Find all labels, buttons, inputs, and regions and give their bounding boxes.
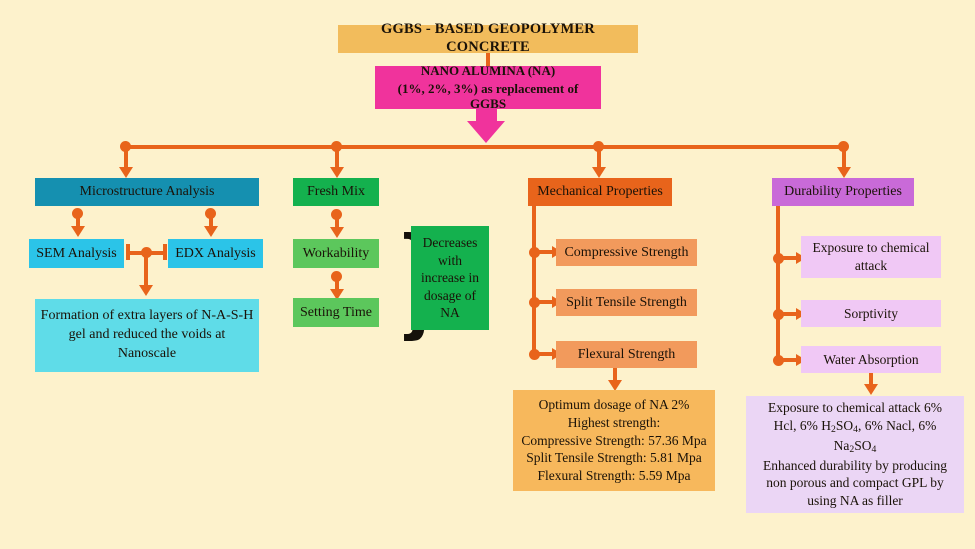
drop-arrow-fresh-mix xyxy=(330,167,344,178)
split-tensile-strength-text: Split Tensile Strength xyxy=(566,294,687,311)
drop-durability xyxy=(842,147,846,169)
durability-spine xyxy=(776,206,780,361)
mechanical-result-line1: Optimum dosage of NA 2% xyxy=(539,396,690,414)
fresh-mix-note-line3: increase in xyxy=(421,269,479,287)
drop-fresh-mix xyxy=(335,147,339,169)
mechanical-result-line4: Split Tensile Strength: 5.81 Mpa xyxy=(526,449,701,467)
mechanical-line-flexural xyxy=(536,352,553,356)
durability-result-line4: Enhanced durability by producing xyxy=(763,457,947,475)
mechanical-result-line2: Highest strength: xyxy=(568,414,661,432)
diagram-title-box: GGBS - BASED GEOPOLYMER CONCRETE xyxy=(338,25,638,53)
durability-result-line3-pre: Na xyxy=(834,438,850,453)
durability-result-arrow xyxy=(864,384,878,395)
durability-result-box: Exposure to chemical attack 6% Hcl, 6% H… xyxy=(746,396,964,513)
main-bus-line xyxy=(125,145,843,149)
durability-line-chemical xyxy=(780,256,797,260)
durability-header-text: Durability Properties xyxy=(784,183,902,200)
edx-join-cap xyxy=(163,244,167,260)
sem-analysis-text: SEM Analysis xyxy=(36,245,117,262)
durability-result-line5: non porous and compact GPL by xyxy=(766,474,944,492)
sorptivity-box: Sorptivity xyxy=(801,300,941,327)
sem-analysis-box: SEM Analysis xyxy=(29,239,124,268)
fresh-mix-note-line1: Decreases xyxy=(423,234,478,252)
drop-arrow-mechanical xyxy=(592,167,606,178)
drop-arrow-durability xyxy=(837,167,851,178)
sorptivity-text: Sorptivity xyxy=(844,305,898,323)
nano-alumina-line1: NANO ALUMINA (NA) xyxy=(421,63,555,79)
microstructure-result-box: Formation of extra layers of N-A-S-H gel… xyxy=(35,299,259,372)
fresh-mix-note-line2: with xyxy=(438,252,462,270)
fresh-mix-note-box: Decreases with increase in dosage of NA xyxy=(411,226,489,330)
diagram-title-text: GGBS - BASED GEOPOLYMER CONCRETE xyxy=(342,21,634,56)
water-absorption-box: Water Absorption xyxy=(801,346,941,373)
water-absorption-text: Water Absorption xyxy=(823,351,918,369)
durability-result-line2: Hcl, 6% H2SO4, 6% Nacl, 6% xyxy=(774,417,937,437)
flexural-strength-box: Flexural Strength xyxy=(556,341,697,368)
fresh-mix-arrow-workability xyxy=(330,227,344,238)
split-tensile-strength-box: Split Tensile Strength xyxy=(556,289,697,316)
mechanical-spine xyxy=(532,206,536,358)
durability-result-line1: Exposure to chemical attack 6% xyxy=(768,399,942,417)
mechanical-line-split-tensile xyxy=(536,300,553,304)
setting-time-text: Setting Time xyxy=(300,304,372,321)
fresh-mix-note-line5: NA xyxy=(440,304,460,322)
mechanical-header-box: Mechanical Properties xyxy=(528,178,672,206)
compressive-strength-text: Compressive Strength xyxy=(564,244,688,261)
microstructure-arrow-sem xyxy=(71,226,85,237)
microstructure-result-line2: gel and reduced the voids at xyxy=(69,326,226,345)
sem-join-cap xyxy=(126,244,130,260)
durability-result-line2-pre: Hcl, 6% H xyxy=(774,418,831,433)
durability-line-sorptivity xyxy=(780,312,797,316)
mechanical-line-compressive xyxy=(536,250,553,254)
microstructure-result-line3: Nanoscale xyxy=(118,345,176,364)
durability-result-line3-mid: SO xyxy=(854,438,871,453)
mechanical-result-line3: Compressive Strength: 57.36 Mpa xyxy=(521,432,706,450)
durability-line-water-absorption xyxy=(780,358,797,362)
microstructure-header-text: Microstructure Analysis xyxy=(80,183,215,200)
workability-text: Workability xyxy=(303,245,370,262)
durability-header-box: Durability Properties xyxy=(772,178,914,206)
microstructure-arrow-edx xyxy=(204,226,218,237)
fresh-mix-header-box: Fresh Mix xyxy=(293,178,379,206)
nano-alumina-box: NANO ALUMINA (NA) (1%, 2%, 3%) as replac… xyxy=(375,66,601,109)
drop-microstructure xyxy=(124,147,128,169)
durability-result-line6: using NA as filler xyxy=(807,492,903,510)
drop-arrow-microstructure xyxy=(119,167,133,178)
mechanical-result-line5: Flexural Strength: 5.59 Mpa xyxy=(538,467,691,485)
exposure-chemical-attack-text: Exposure to chemical attack xyxy=(805,239,937,274)
exposure-chemical-attack-box: Exposure to chemical attack xyxy=(801,236,941,278)
setting-time-box: Setting Time xyxy=(293,298,379,327)
nano-alumina-line2: (1%, 2%, 3%) as replacement of GGBS xyxy=(379,81,597,113)
nano-arrow-head xyxy=(467,121,505,143)
mechanical-result-box: Optimum dosage of NA 2% Highest strength… xyxy=(513,390,715,491)
microstructure-result-line xyxy=(144,253,148,287)
durability-result-line2-mid: SO xyxy=(836,418,853,433)
durability-result-line3: Na2SO4 xyxy=(834,437,877,457)
flexural-strength-text: Flexural Strength xyxy=(578,346,676,363)
durability-result-line2-post: , 6% Nacl, 6% xyxy=(858,418,936,433)
durability-result-line3-sub2: 4 xyxy=(872,444,877,455)
fresh-mix-header-text: Fresh Mix xyxy=(307,183,365,200)
microstructure-header-box: Microstructure Analysis xyxy=(35,178,259,206)
workability-box: Workability xyxy=(293,239,379,268)
mechanical-header-text: Mechanical Properties xyxy=(537,183,663,200)
microstructure-result-arrow xyxy=(139,285,153,296)
microstructure-result-line1: Formation of extra layers of N-A-S-H xyxy=(41,307,254,326)
drop-mechanical xyxy=(597,147,601,169)
edx-analysis-text: EDX Analysis xyxy=(175,245,256,262)
compressive-strength-box: Compressive Strength xyxy=(556,239,697,266)
fresh-mix-note-line4: dosage of xyxy=(424,287,476,305)
edx-analysis-box: EDX Analysis xyxy=(168,239,263,268)
flowchart-canvas: GGBS - BASED GEOPOLYMER CONCRETE NANO AL… xyxy=(0,0,975,549)
